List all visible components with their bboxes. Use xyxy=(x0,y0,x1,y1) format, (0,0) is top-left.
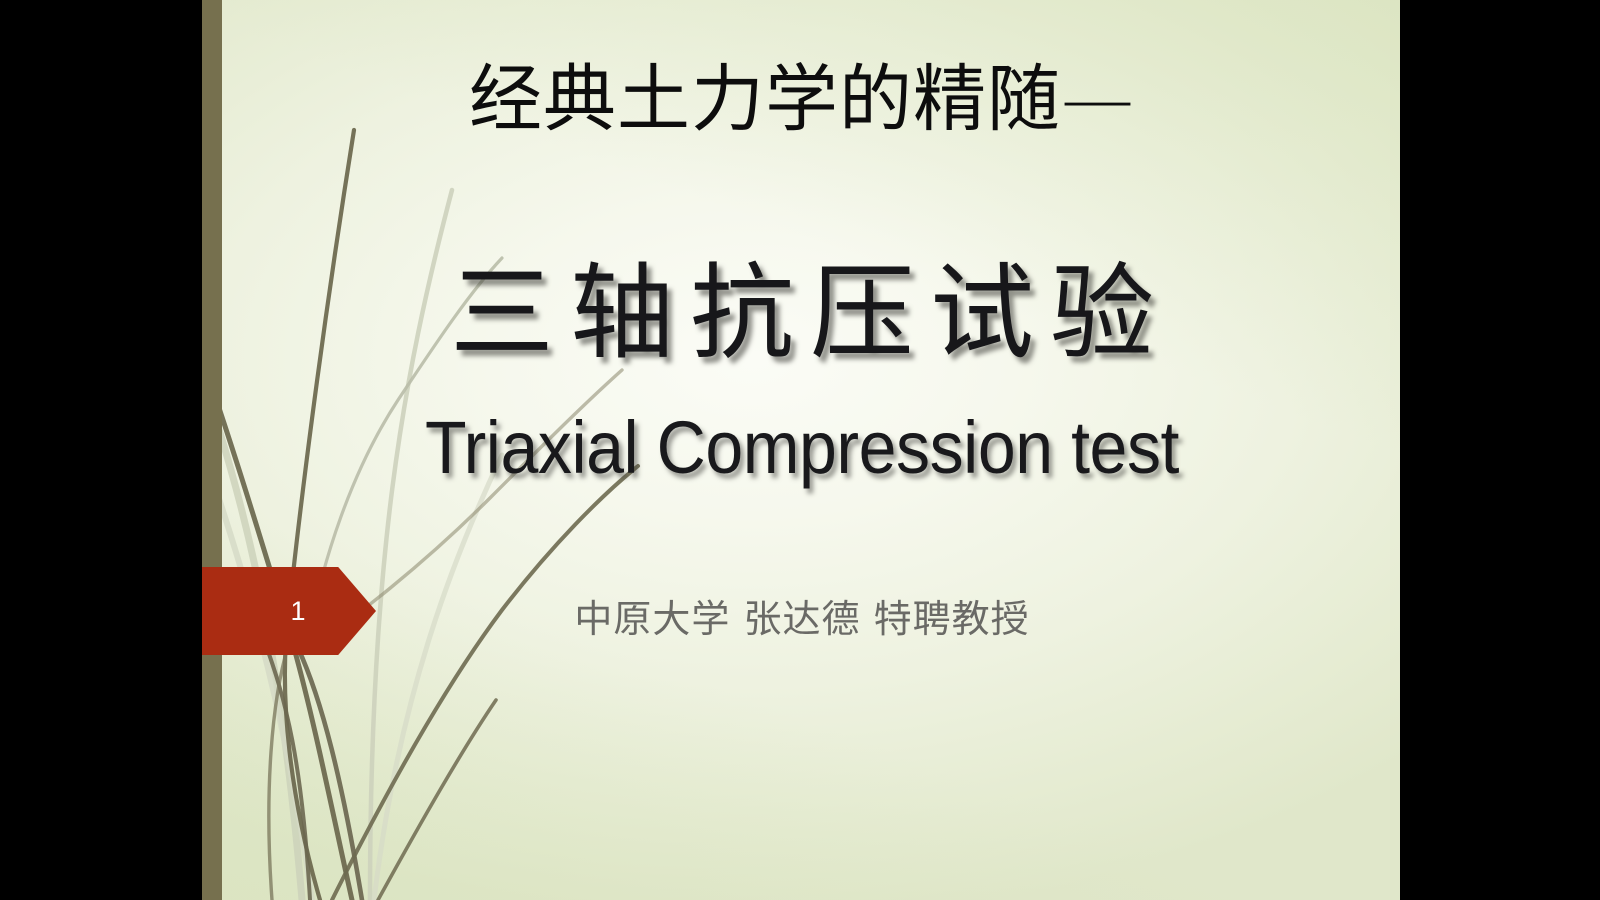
presentation-slide-stage: 1 经典土力学的精随— 三轴抗压试验 Triaxial Compression … xyxy=(0,0,1600,900)
slide-text-stack: 经典土力学的精随— 三轴抗压试验 Triaxial Compression te… xyxy=(202,0,1400,900)
slide-canvas: 1 经典土力学的精随— 三轴抗压试验 Triaxial Compression … xyxy=(202,0,1400,900)
slide-title-english: Triaxial Compression test xyxy=(287,405,1317,490)
slide-author-line: 中原大学 张达德 特聘教授 xyxy=(242,597,1362,643)
slide-kicker-line: 经典土力学的精随— xyxy=(242,62,1362,139)
letterbox-right-bar xyxy=(1400,0,1600,900)
slide-title-chinese: 三轴抗压试验 xyxy=(242,255,1362,371)
slide-number-text: 1 xyxy=(290,598,305,625)
letterbox-left-bar xyxy=(0,0,202,900)
